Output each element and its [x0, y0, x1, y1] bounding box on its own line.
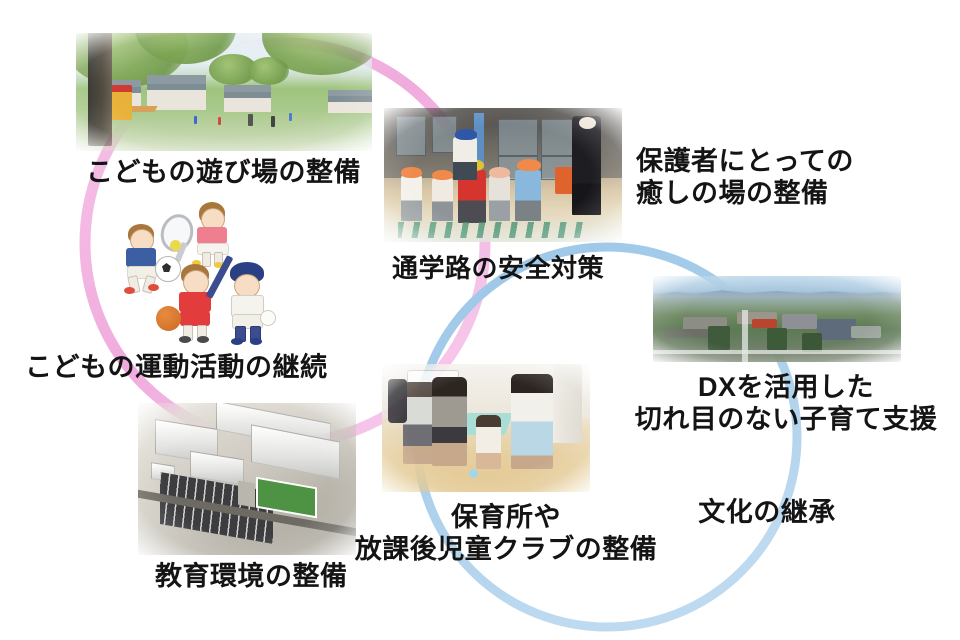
- label-education-environment: 教育環境の整備: [155, 561, 348, 593]
- label-sports-continuation-line-1: こどもの運動活動の継続: [25, 352, 328, 384]
- aerial-town-photo: [653, 276, 901, 362]
- label-nursery-afterschool-line-2: 放課後児童クラブの整備: [355, 534, 658, 566]
- sports-kids-illustration: [112, 198, 276, 348]
- label-play-area: こどもの遊び場の整備: [86, 157, 361, 189]
- label-dx-childcare-support-line-1: DXを活用した: [635, 372, 938, 404]
- label-culture-succession-line-1: 文化の継承: [698, 497, 836, 529]
- baseball-icon: [260, 310, 276, 326]
- label-guardian-relaxation-line-2: 癒しの場の整備: [636, 178, 854, 210]
- school-aerial-photo: [138, 403, 356, 555]
- label-school-route-safety: 通学路の安全対策: [392, 253, 604, 284]
- label-play-area-line-1: こどもの遊び場の整備: [86, 157, 361, 189]
- school-crossing-photo: [384, 108, 622, 242]
- label-dx-childcare-support-line-2: 切れ目のない子育て支援: [635, 404, 938, 436]
- label-culture-succession: 文化の継承: [698, 497, 836, 529]
- label-education-environment-line-1: 教育環境の整備: [155, 561, 348, 593]
- slide-canvas: こどもの遊び場の整備 こどもの運動活動の継続 教育環境の整備 通学路の安全対策 …: [0, 0, 960, 640]
- label-nursery-afterschool: 保育所や 放課後児童クラブの整備: [355, 502, 658, 566]
- label-guardian-relaxation: 保護者にとっての 癒しの場の整備: [636, 146, 854, 210]
- basketball-icon: [156, 306, 181, 331]
- park-playground-photo: [76, 33, 372, 151]
- nursery-photo: [382, 364, 590, 492]
- label-school-route-safety-line-1: 通学路の安全対策: [392, 253, 604, 284]
- label-nursery-afterschool-line-1: 保育所や: [355, 502, 658, 534]
- label-dx-childcare-support: DXを活用した 切れ目のない子育て支援: [635, 372, 938, 436]
- label-sports-continuation: こどもの運動活動の継続: [25, 352, 328, 384]
- label-guardian-relaxation-line-1: 保護者にとっての: [636, 146, 854, 178]
